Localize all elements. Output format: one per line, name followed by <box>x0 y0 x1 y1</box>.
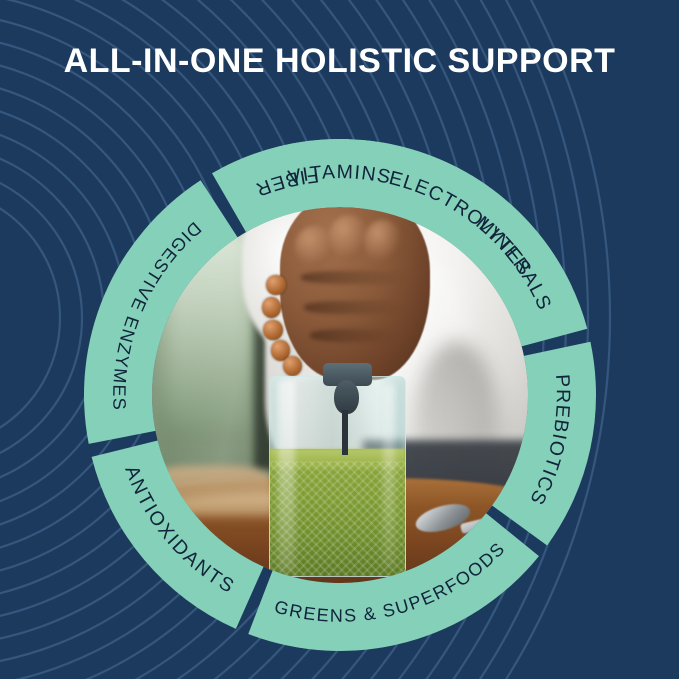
wheel-segment-digestive-enzymes[interactable] <box>84 180 238 444</box>
wheel-segment-greens-superfoods[interactable] <box>248 513 539 651</box>
infographic-canvas: ALL-IN-ONE HOLISTIC SUPPORT <box>0 0 679 679</box>
wheel-segment-prebiotics[interactable] <box>492 342 596 546</box>
page-title: ALL-IN-ONE HOLISTIC SUPPORT <box>0 42 679 81</box>
holistic-support-wheel: VITAMINSMINERALSPREBIOTICSGREENS & SUPER… <box>84 139 596 651</box>
